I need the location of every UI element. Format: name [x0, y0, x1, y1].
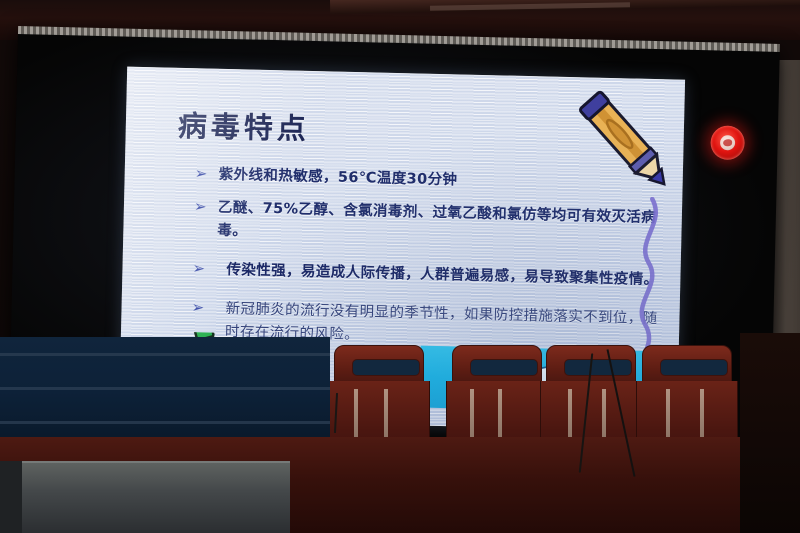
- panel-rail: [0, 421, 330, 424]
- chair-back: [452, 345, 542, 385]
- chair-back-slot: [353, 360, 419, 375]
- red-circular-logo-badge: [710, 125, 745, 160]
- bullet-text: 乙醚、75%乙醇、含氯消毒剂、过氧乙酸和氯仿等均可有效灭活病毒。: [193, 196, 664, 253]
- panel-rail: [0, 353, 330, 356]
- badge-inner-glyph: [720, 135, 735, 150]
- bullet-text: 传染性强，易造成人际传播，人群普遍易感，易导致聚集性疫情。: [192, 258, 662, 292]
- arrow-bullet-icon: ➢: [195, 164, 211, 182]
- panel-rail: [0, 387, 330, 390]
- chair-back-slot: [661, 360, 727, 375]
- arrow-bullet-icon: ➢: [194, 197, 210, 215]
- chair-back: [642, 345, 732, 385]
- chair-back-slot: [565, 360, 631, 375]
- stage-blue-panel-wall: [0, 337, 330, 437]
- chair-back-slot: [471, 360, 537, 375]
- list-item: ➢ 传染性强，易造成人际传播，人群普遍易感，易导致聚集性疫情。: [192, 258, 662, 292]
- list-item: ➢ 乙醚、75%乙醇、含氯消毒剂、过氧乙酸和氯仿等均可有效灭活病毒。: [193, 196, 664, 253]
- page-title: 病毒特点: [177, 103, 310, 148]
- pencil-icon: [566, 83, 685, 206]
- stage-podium: [0, 461, 290, 533]
- chair-back: [334, 345, 424, 385]
- podium-left-edge: [0, 461, 22, 533]
- dark-right-foreground: [740, 333, 800, 533]
- arrow-bullet-icon: ➢: [192, 259, 208, 277]
- conference-hall-scene: 病毒特点 ➢ 紫外线和热敏感，56℃温度30分钟 ➢ 乙醚、75%乙醇、含氯消毒…: [0, 0, 800, 533]
